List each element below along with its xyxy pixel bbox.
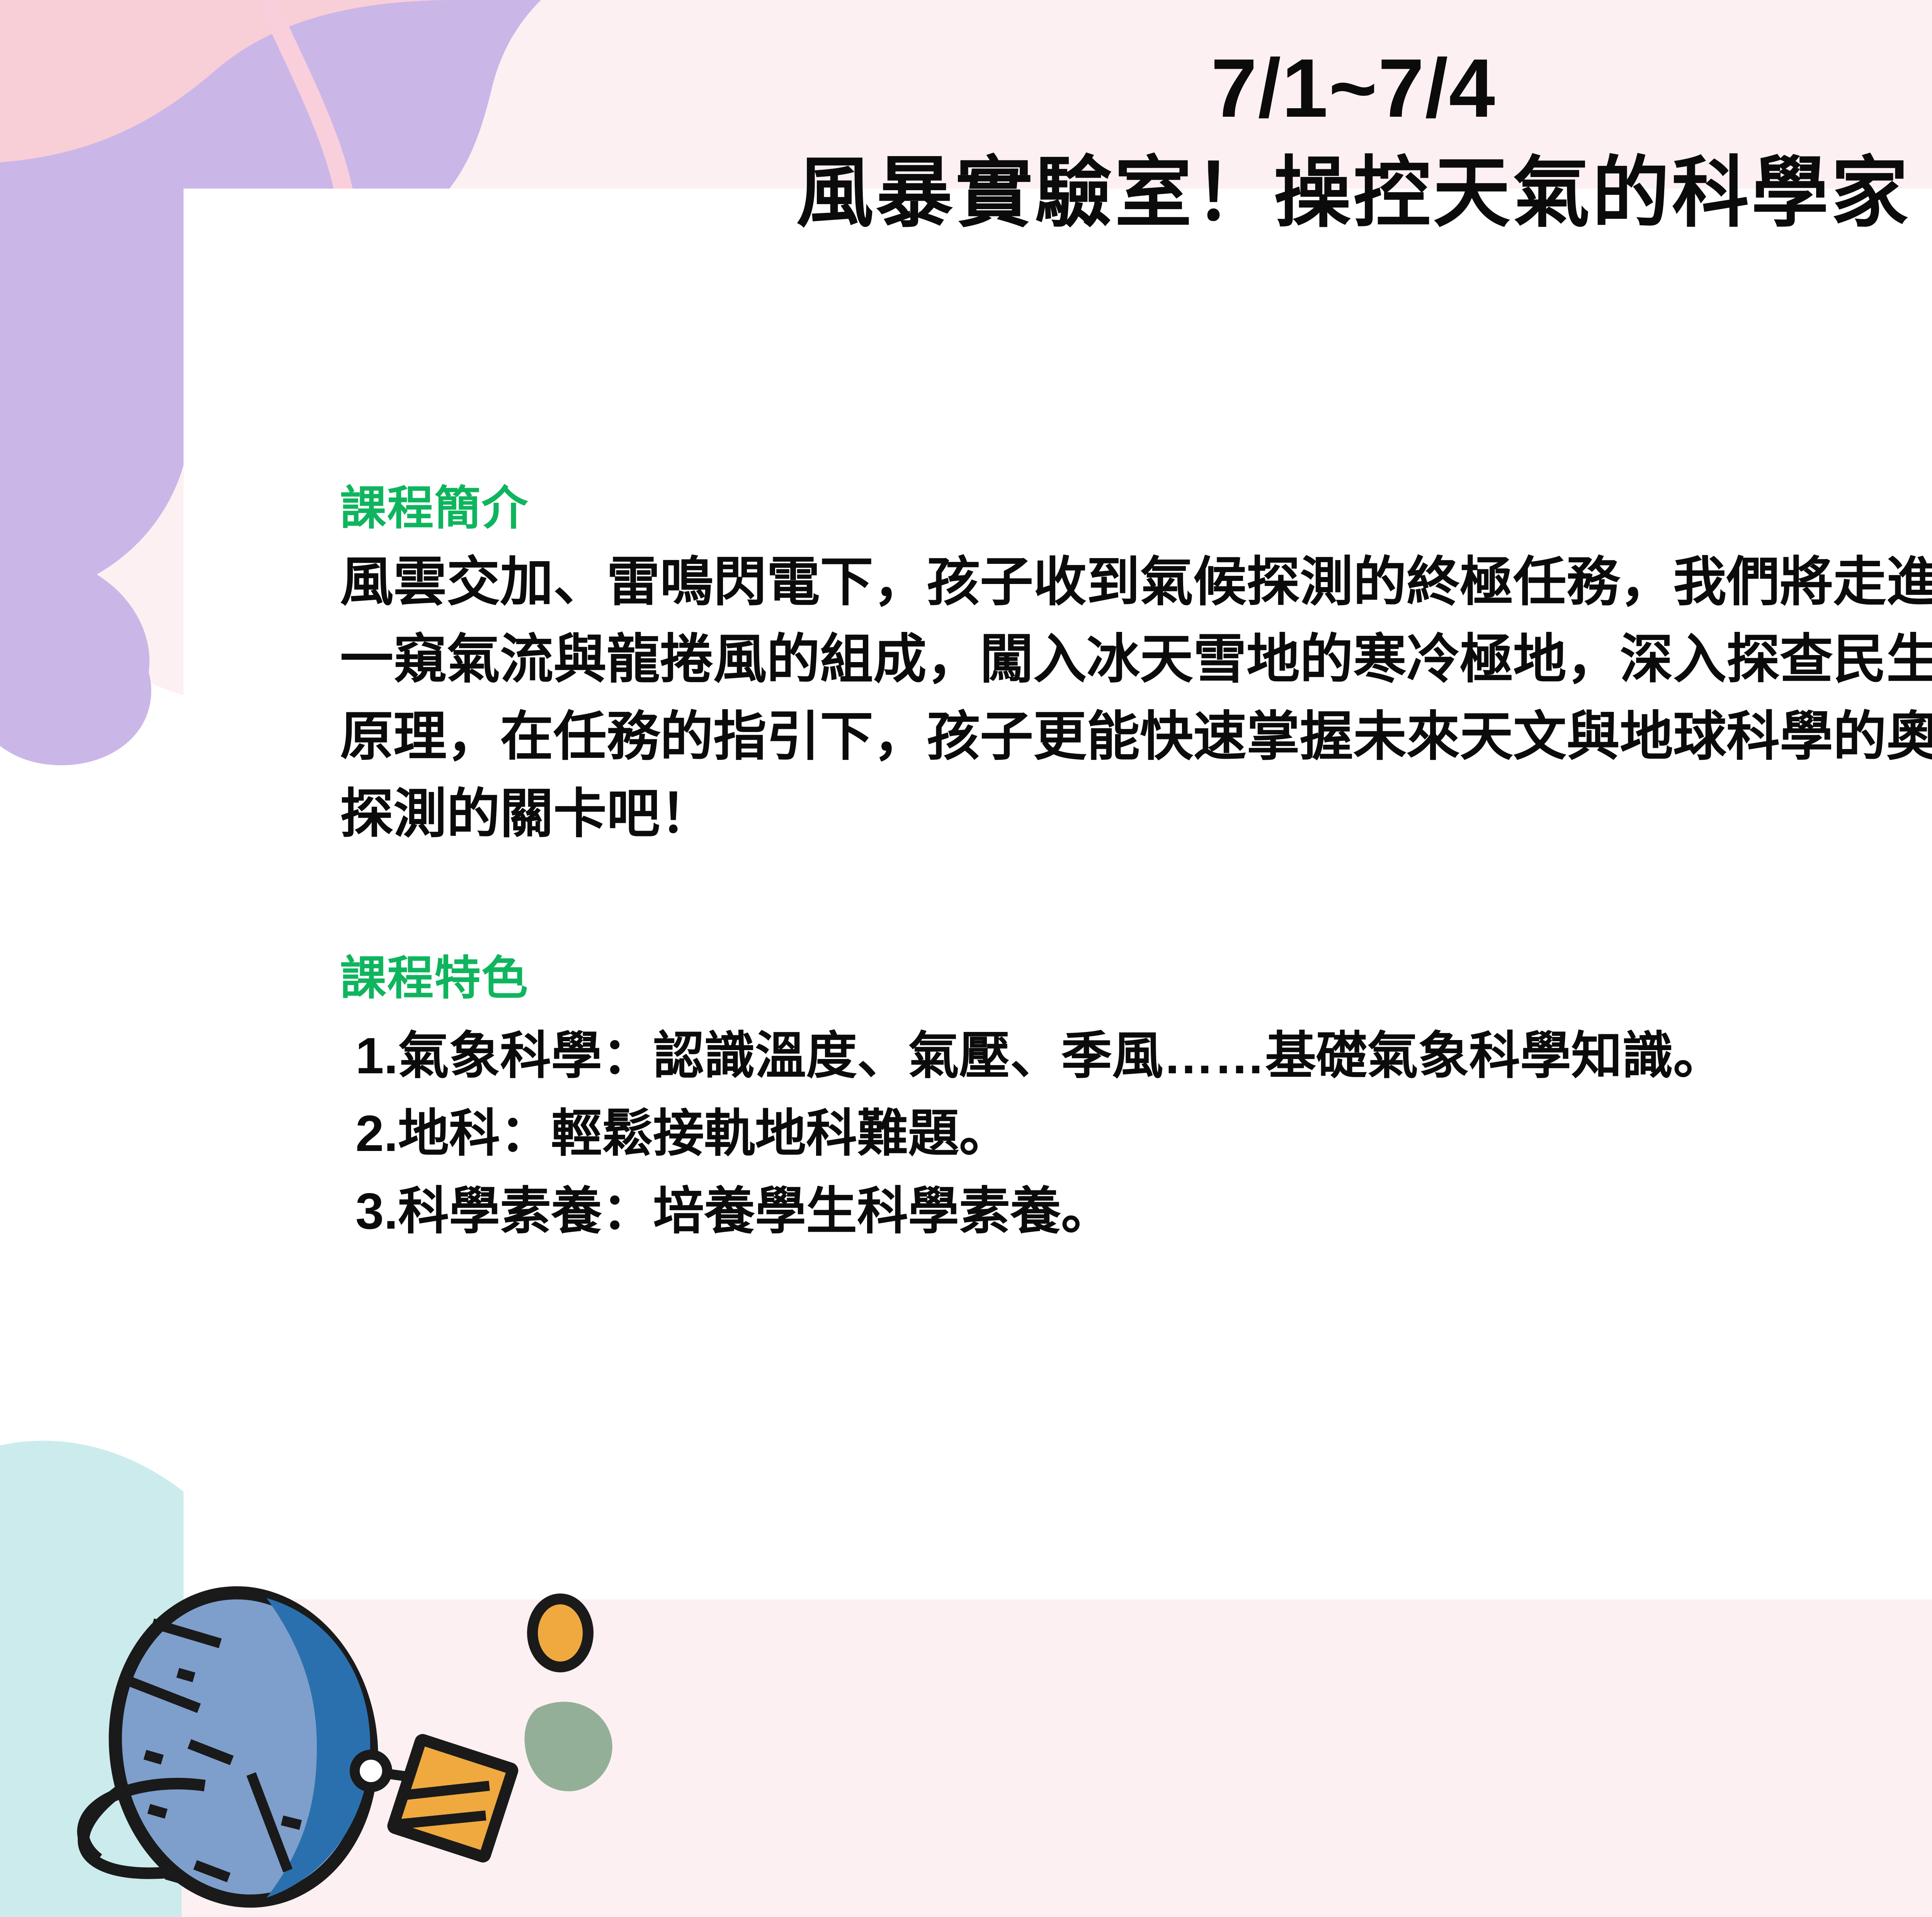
cream-wash-bottom: [182, 1600, 1932, 1917]
cyan-band-bottom-left-under: [0, 1630, 182, 1917]
features-heading: 課程特色: [340, 949, 1932, 1007]
list-item: 1.氣象科學：認識溫度、氣壓、季風……基礎氣象科學知識。: [340, 1017, 1932, 1095]
list-item: 2.地科：輕鬆接軌地科難題。: [340, 1095, 1932, 1173]
intro-heading: 課程簡介: [340, 479, 1932, 537]
intro-paragraph: 風雲交加、雷鳴閃電下，孩子收到氣候探測的終極任務，我們將走進千變萬化的大氣中一窺…: [340, 543, 1932, 853]
section-gap: [340, 853, 1932, 949]
list-item: 3.科學素養：培養學生科學素養。: [340, 1173, 1932, 1250]
content-body: 課程簡介 風雲交加、雷鳴閃電下，孩子收到氣候探測的終極任務，我們將走進千變萬化的…: [340, 479, 1932, 1250]
features-list: 1.氣象科學：認識溫度、氣壓、季風……基礎氣象科學知識。 2.地科：輕鬆接軌地科…: [340, 1017, 1932, 1250]
